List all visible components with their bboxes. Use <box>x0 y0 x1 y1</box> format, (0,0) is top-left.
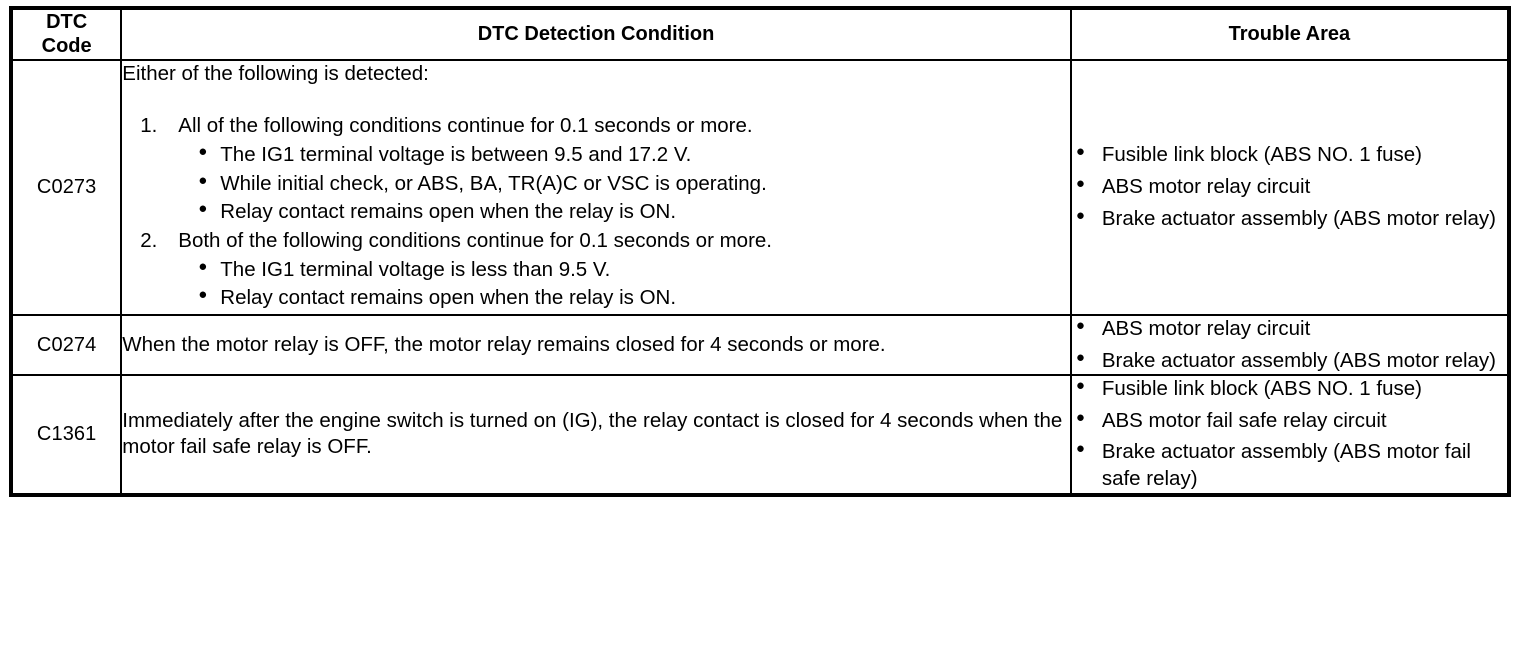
list-item-text: ABS motor relay circuit <box>1102 317 1310 340</box>
list-item: ● While initial check, or ABS, BA, TR(A)… <box>178 171 1070 198</box>
condition-paragraph: Immediately after the engine switch is t… <box>122 408 1070 461</box>
list-item-text: Brake actuator assembly (ABS motor fail … <box>1102 440 1471 490</box>
bullet-icon: ● <box>1076 408 1085 428</box>
bullet-icon: ● <box>1076 174 1085 194</box>
trouble-area-cell: ● Fusible link block (ABS NO. 1 fuse) ● … <box>1071 375 1509 495</box>
detection-condition-cell: When the motor relay is OFF, the motor r… <box>121 315 1071 375</box>
list-number: 2. <box>140 228 170 255</box>
list-item-text: Fusible link block (ABS NO. 1 fuse) <box>1102 377 1422 400</box>
list-item-text: All of the following conditions continue… <box>178 114 752 137</box>
bullet-icon: ● <box>198 142 207 162</box>
dtc-code-cell: C0274 <box>11 315 121 375</box>
list-item: ● Brake actuator assembly (ABS motor fai… <box>1072 439 1507 492</box>
column-header-detection-condition: DTC Detection Condition <box>121 8 1071 60</box>
condition-paragraph: When the motor relay is OFF, the motor r… <box>122 332 1070 359</box>
list-item: ● Relay contact remains open when the re… <box>178 199 1070 226</box>
trouble-area-list: ● ABS motor relay circuit ● Brake actuat… <box>1072 316 1507 374</box>
dtc-code-cell: C1361 <box>11 375 121 495</box>
condition-lead-text: Either of the following is detected: <box>122 61 1070 88</box>
column-header-trouble-area: Trouble Area <box>1071 8 1509 60</box>
list-item: ● The IG1 terminal voltage is less than … <box>178 257 1070 284</box>
bullet-icon: ● <box>198 171 207 191</box>
bullet-icon: ● <box>1076 376 1085 396</box>
bullet-icon: ● <box>1076 142 1085 162</box>
trouble-area-list: ● Fusible link block (ABS NO. 1 fuse) ● … <box>1072 142 1507 232</box>
table-header: DTC Code DTC Detection Condition Trouble… <box>11 8 1509 60</box>
list-item: ● ABS motor fail safe relay circuit <box>1072 408 1507 435</box>
list-item-text: Both of the following conditions continu… <box>178 229 772 252</box>
bullet-icon: ● <box>1076 316 1085 336</box>
list-item-text: The IG1 terminal voltage is less than 9.… <box>220 258 610 281</box>
table-body: C0273 Either of the following is detecte… <box>11 60 1509 495</box>
table-row: C1361 Immediately after the engine switc… <box>11 375 1509 495</box>
list-item-text: ABS motor fail safe relay circuit <box>1102 409 1387 432</box>
condition-sub-list: ● The IG1 terminal voltage is between 9.… <box>178 142 1070 226</box>
condition-numbered-list: 1. All of the following conditions conti… <box>122 113 1070 311</box>
bullet-icon: ● <box>1076 206 1085 226</box>
trouble-area-cell: ● Fusible link block (ABS NO. 1 fuse) ● … <box>1071 60 1509 315</box>
list-item: ● Relay contact remains open when the re… <box>178 285 1070 312</box>
column-header-dtc-code: DTC Code <box>11 8 121 60</box>
bullet-icon: ● <box>198 285 207 305</box>
column-header-dtc-code-line1: DTC <box>15 10 118 34</box>
list-item-text: Fusible link block (ABS NO. 1 fuse) <box>1102 143 1422 166</box>
list-item: ● Fusible link block (ABS NO. 1 fuse) <box>1072 376 1507 403</box>
list-number: 1. <box>140 113 170 140</box>
list-item-text: While initial check, or ABS, BA, TR(A)C … <box>220 172 766 195</box>
spacer <box>122 91 1070 113</box>
list-item-text: The IG1 terminal voltage is between 9.5 … <box>220 143 691 166</box>
table-row: C0273 Either of the following is detecte… <box>11 60 1509 315</box>
bullet-icon: ● <box>1076 348 1085 368</box>
list-item: ● ABS motor relay circuit <box>1072 174 1507 201</box>
trouble-area-cell: ● ABS motor relay circuit ● Brake actuat… <box>1071 315 1509 375</box>
bullet-icon: ● <box>198 257 207 277</box>
list-item: ● The IG1 terminal voltage is between 9.… <box>178 142 1070 169</box>
list-item-text: ABS motor relay circuit <box>1102 175 1310 198</box>
list-item: 2. Both of the following conditions cont… <box>122 228 1070 312</box>
list-item: 1. All of the following conditions conti… <box>122 113 1070 226</box>
list-item: ● Brake actuator assembly (ABS motor rel… <box>1072 348 1507 375</box>
condition-sub-list: ● The IG1 terminal voltage is less than … <box>178 257 1070 312</box>
table-row: C0274 When the motor relay is OFF, the m… <box>11 315 1509 375</box>
detection-condition-cell: Immediately after the engine switch is t… <box>121 375 1071 495</box>
document-page: DTC Code DTC Detection Condition Trouble… <box>0 0 1520 652</box>
list-item-text: Relay contact remains open when the rela… <box>220 200 676 223</box>
column-header-dtc-code-line2: Code <box>15 34 118 58</box>
list-item-text: Brake actuator assembly (ABS motor relay… <box>1102 349 1496 372</box>
detection-condition-cell: Either of the following is detected: 1. … <box>121 60 1071 315</box>
list-item-text: Brake actuator assembly (ABS motor relay… <box>1102 207 1496 230</box>
trouble-area-list: ● Fusible link block (ABS NO. 1 fuse) ● … <box>1072 376 1507 493</box>
list-item: ● Brake actuator assembly (ABS motor rel… <box>1072 206 1507 233</box>
list-item: ● Fusible link block (ABS NO. 1 fuse) <box>1072 142 1507 169</box>
list-item: ● ABS motor relay circuit <box>1072 316 1507 343</box>
bullet-icon: ● <box>198 199 207 219</box>
bullet-icon: ● <box>1076 439 1085 459</box>
list-item-text: Relay contact remains open when the rela… <box>220 286 676 309</box>
dtc-table: DTC Code DTC Detection Condition Trouble… <box>9 6 1511 497</box>
dtc-code-cell: C0273 <box>11 60 121 315</box>
header-row: DTC Code DTC Detection Condition Trouble… <box>11 8 1509 60</box>
